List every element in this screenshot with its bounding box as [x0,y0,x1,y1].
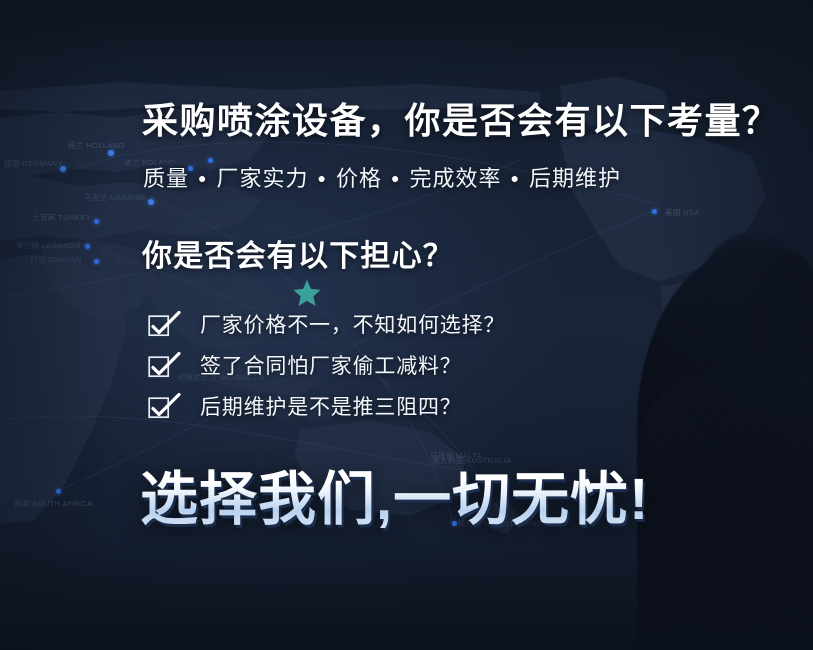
headline-primary: 采购喷涂设备，你是否会有以下考量？ [142,92,780,144]
checkbox-checked-icon [148,393,182,419]
checkbox-checked-icon [148,352,182,378]
checklist-item-label: 厂家价格不一，不知如何选择？ [200,309,505,339]
bullet-dot-icon: ● [198,170,207,186]
promo-banner: 荷兰 HOLLAND德国 GERMANY波兰 POLAND乌克兰 UKRAINE… [0,0,813,650]
feature-item: 后期维护 [529,166,621,191]
headline-hero: 选择我们,一切无忧! [140,452,649,536]
feature-item: 厂家实力 [216,166,308,191]
checkbox-checked-icon [148,311,182,337]
checklist-item: 后期维护是不是推三阻四？ [148,385,505,426]
checklist-item-label: 后期维护是不是推三阻四？ [200,391,462,421]
concern-checklist: 厂家价格不一，不知如何选择？签了合同怕厂家偷工减料？后期维护是不是推三阻四？ [148,303,505,426]
checklist-item: 签了合同怕厂家偷工减料？ [148,344,505,385]
checklist-item-label: 签了合同怕厂家偷工减料？ [200,350,462,380]
feature-item: 完成效率 [409,166,501,191]
feature-list: 质量●厂家实力●价格●完成效率●后期维护 [143,161,621,193]
bullet-dot-icon: ● [510,170,519,186]
bullet-dot-icon: ● [318,170,327,186]
feature-item: 质量 [143,166,189,191]
bullet-dot-icon: ● [391,170,400,186]
headline-secondary: 你是否会有以下担心？ [142,231,454,275]
feature-item: 价格 [336,166,382,191]
checklist-item: 厂家价格不一，不知如何选择？ [148,303,505,344]
banner-content: 采购喷涂设备，你是否会有以下考量？ 质量●厂家实力●价格●完成效率●后期维护 你… [0,0,813,650]
